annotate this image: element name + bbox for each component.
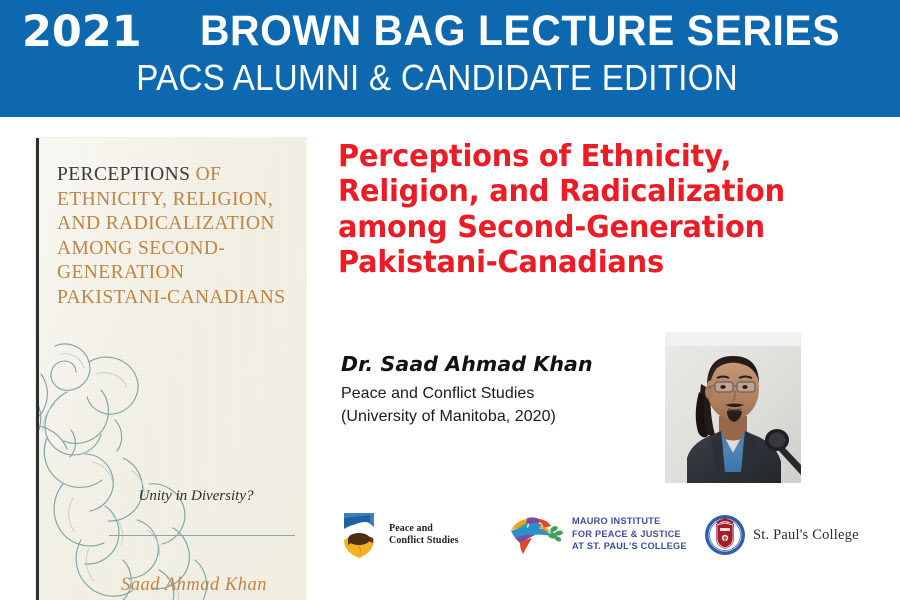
book-title-remainder: ETHNICITY, RELIGION, AND RADICALIZATION …	[57, 189, 286, 308]
lecture-title-line: Pakistani-Canadians	[338, 245, 876, 280]
banner-year: 2021	[22, 11, 142, 54]
logo-peace-and-conflict-studies: Peace and Conflict Studies	[336, 509, 459, 561]
book-cover-subtitle: Unity in Diversity?	[57, 488, 295, 505]
mauro-logo-line1: MAURO INSTITUTE	[572, 515, 687, 528]
logo-mauro-institute: MAURO INSTITUTE FOR PEACE & JUSTICE AT S…	[507, 512, 687, 556]
st-pauls-college-crest-icon	[704, 514, 746, 556]
mauro-logo-line3: AT ST. PAUL'S COLLEGE	[572, 540, 687, 553]
banner-title: BROWN BAG LECTURE SERIES	[169, 9, 872, 54]
lecture-title-line: Religion, and Radicalization	[338, 174, 876, 209]
logo-st-pauls-college: St. Paul's College	[704, 514, 859, 556]
pacs-logo-text: Peace and Conflict Studies	[389, 523, 459, 548]
mauro-logo-text: MAURO INSTITUTE FOR PEACE & JUSTICE AT S…	[572, 515, 687, 553]
book-cover-author: Saad Ahmad Khan	[57, 575, 295, 596]
book-title-of: OF	[190, 164, 221, 185]
speaker-name: Dr. Saad Ahmad Khan	[341, 352, 651, 378]
book-cover-divider	[109, 535, 295, 536]
ornamental-flourish-icon	[36, 334, 237, 600]
lecture-poster: 2021 BROWN BAG LECTURE SERIES PACS ALUMN…	[0, 0, 900, 600]
mauro-dove-olive-branch-icon	[507, 512, 565, 556]
speaker-credential: (University of Manitoba, 2020)	[341, 406, 651, 429]
speaker-affiliation: Peace and Conflict Studies	[341, 383, 651, 406]
header-banner: 2021 BROWN BAG LECTURE SERIES PACS ALUMN…	[0, 0, 900, 117]
lecture-title: Perceptions of Ethnicity, Religion, and …	[338, 139, 876, 280]
speaker-portrait	[665, 332, 801, 483]
spc-logo-text: St. Paul's College	[753, 527, 859, 544]
logo-strip: Peace and Conflict Studies	[336, 503, 884, 565]
book-title-keyword: PERCEPTIONS	[57, 164, 190, 185]
banner-subtitle: PACS ALUMNI & CANDIDATE EDITION	[36, 59, 864, 97]
university-of-manitoba-bison-shield-icon	[336, 509, 382, 561]
pacs-logo-line2: Conflict Studies	[389, 535, 459, 548]
speaker-block: Dr. Saad Ahmad Khan Peace and Conflict S…	[341, 352, 651, 428]
lecture-title-line: Perceptions of Ethnicity,	[338, 139, 876, 174]
book-cover-image: PERCEPTIONS OF ETHNICITY, RELIGION, AND …	[36, 138, 306, 600]
pacs-logo-line1: Peace and	[389, 523, 459, 536]
lecture-title-line: among Second-Generation	[338, 210, 876, 245]
book-cover-title: PERCEPTIONS OF ETHNICITY, RELIGION, AND …	[57, 163, 295, 310]
mauro-logo-line2: FOR PEACE & JUSTICE	[572, 528, 687, 541]
